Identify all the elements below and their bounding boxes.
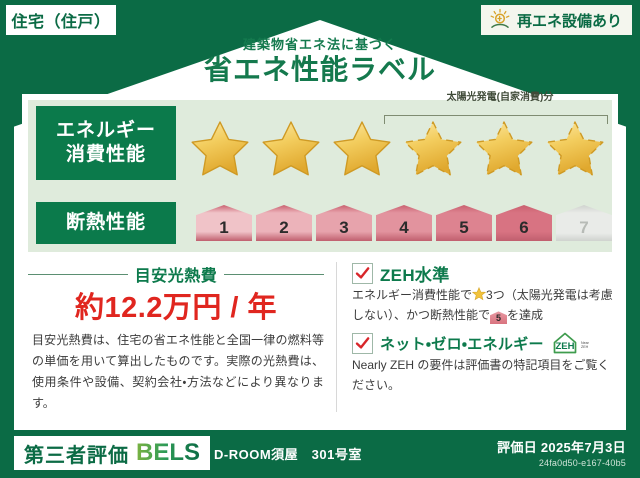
- renewable-equipment-badge: 再エネ設備あり: [481, 5, 632, 35]
- evaluation-info: 評価日 2025年7月3日 24fa0d50-e167-40b5: [497, 437, 626, 468]
- star-filled: [186, 118, 254, 180]
- zeh-standard-checkbox[interactable]: [352, 263, 373, 284]
- zeh-logo-icon: ZEH Nearly ZEH: [551, 330, 589, 356]
- star-solar: [399, 118, 467, 180]
- star-solar: [470, 118, 538, 180]
- check-icon: [355, 266, 370, 281]
- zeh-standard-row: ZEH水準: [352, 261, 450, 286]
- insulation-grade-scale: 1234567: [196, 205, 612, 241]
- insulation-performance-label-chip: 断熱性能: [36, 202, 176, 244]
- label-title-block: 建築物省エネ法に基づく 省エネ性能ラベル: [0, 38, 640, 86]
- check-icon: [355, 336, 370, 351]
- energy-label-line2: 消費性能: [56, 143, 156, 167]
- star-solar: [541, 118, 609, 180]
- bels-certification-chip: 第三者評価 BELS: [14, 436, 210, 470]
- utility-cost-note: 目安光熱費は、住宅の省エネ性能と全国一律の燃料等の単価を用いて算出したものです。…: [32, 330, 324, 414]
- cost-rule-left: [28, 274, 128, 275]
- svg-text:ZEH: ZEH: [581, 345, 589, 349]
- insulation-grade-active: 1: [196, 205, 252, 241]
- evaluation-id: 24fa0d50-e167-40b5: [497, 458, 626, 468]
- sun-icon: [488, 8, 512, 32]
- energy-label-line1: エネルギー: [56, 119, 156, 143]
- energy-performance-label-chip: エネルギー 消費性能: [36, 106, 176, 180]
- inline-star-icon: [472, 287, 486, 301]
- svg-text:ZEH: ZEH: [555, 341, 574, 352]
- net-zero-energy-checkbox[interactable]: [352, 333, 373, 354]
- insulation-grade-active: 5: [436, 205, 492, 241]
- building-unit-name: D-ROOM須屋 301号室: [214, 444, 362, 463]
- inline-insulation-badge: 5: [490, 311, 507, 324]
- cost-rule-right: [224, 274, 324, 275]
- solar-bracket-caption: 太陽光発電(自家消費)分: [390, 88, 610, 103]
- utility-cost-heading: 目安光熱費: [28, 262, 324, 286]
- utility-cost-value: 約12.2万円 / 年: [28, 284, 324, 326]
- energy-star-rating: [186, 118, 606, 180]
- insulation-grade-inactive: 7: [556, 205, 612, 241]
- star-filled: [257, 118, 325, 180]
- solar-bracket: [384, 103, 608, 121]
- zeh-desc-part1: エネルギー消費性能で: [352, 288, 472, 302]
- page-title: 省エネ性能ラベル: [0, 54, 640, 86]
- zeh-desc-part3: を達成: [507, 308, 543, 322]
- title-subtitle: 建築物省エネ法に基づく: [0, 38, 640, 52]
- zeh-standard-title: ZEH水準: [380, 261, 450, 286]
- bels-logo-text: BELS: [136, 439, 200, 467]
- energy-performance-label: 住宅（住戸） 再エネ設備あり 建築物省エネ法に基づく 省エネ性能ラベル: [0, 0, 640, 478]
- insulation-grade-active: 2: [256, 205, 312, 241]
- net-zero-energy-description: Nearly ZEH の要件は評価書の特記項目をご覧ください。: [352, 355, 620, 396]
- insulation-grade-active: 6: [496, 205, 552, 241]
- evaluation-date: 評価日 2025年7月3日: [497, 437, 626, 456]
- star-filled: [328, 118, 396, 180]
- zeh-standard-description: エネルギー消費性能で 3つ（太陽光発電は考慮しない）、かつ断熱性能で5を達成: [352, 285, 620, 326]
- bels-japanese-label: 第三者評価: [24, 439, 129, 468]
- insulation-grade-active: 4: [376, 205, 432, 241]
- net-zero-energy-row: ネット・ゼロ・エネルギー ZEH Nearly ZEH: [352, 330, 589, 356]
- zeh-desc-starcount: 3つ（太陽光発電: [486, 288, 577, 302]
- renewable-badge-label: 再エネ設備あり: [517, 10, 622, 31]
- category-tag: 住宅（住戸）: [6, 5, 116, 35]
- utility-cost-title: 目安光熱費: [135, 262, 218, 286]
- insulation-grade-active: 3: [316, 205, 372, 241]
- net-zero-energy-title: ネット・ゼロ・エネルギー: [380, 333, 544, 354]
- column-divider: [336, 262, 337, 412]
